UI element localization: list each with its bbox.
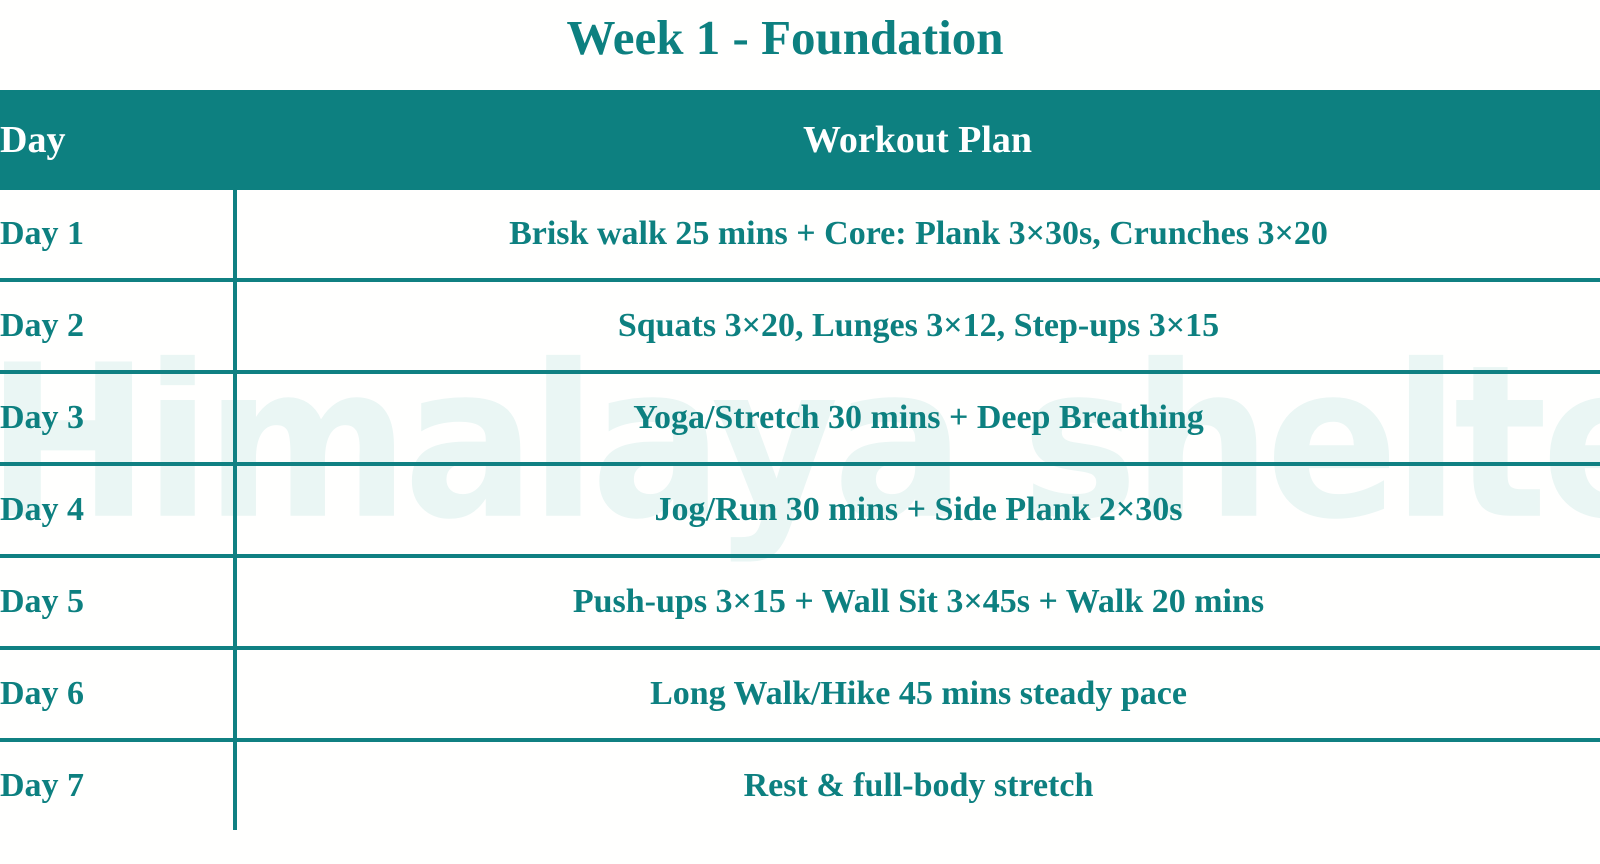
column-header-workout-plan: Workout Plan (235, 90, 1600, 190)
workout-plan-table: Day Workout Plan Day 1Brisk walk 25 mins… (0, 90, 1600, 830)
workout-plan-page: Week 1 - Foundation Day Workout Plan Day… (0, 0, 1600, 864)
table-row: Day 5Push-ups 3×15 + Wall Sit 3×45s + Wa… (0, 556, 1600, 648)
column-header-day: Day (0, 90, 235, 190)
cell-day: Day 5 (0, 556, 235, 648)
table-row: Day 3Yoga/Stretch 30 mins + Deep Breathi… (0, 372, 1600, 464)
cell-workout-plan: Brisk walk 25 mins + Core: Plank 3×30s, … (235, 190, 1600, 280)
table-row: Day 4Jog/Run 30 mins + Side Plank 2×30s (0, 464, 1600, 556)
cell-workout-plan: Jog/Run 30 mins + Side Plank 2×30s (235, 464, 1600, 556)
table-row: Day 1Brisk walk 25 mins + Core: Plank 3×… (0, 190, 1600, 280)
cell-workout-plan: Push-ups 3×15 + Wall Sit 3×45s + Walk 20… (235, 556, 1600, 648)
cell-day: Day 1 (0, 190, 235, 280)
table-body: Day 1Brisk walk 25 mins + Core: Plank 3×… (0, 190, 1600, 830)
cell-workout-plan: Squats 3×20, Lunges 3×12, Step-ups 3×15 (235, 280, 1600, 372)
cell-day: Day 6 (0, 648, 235, 740)
table-row: Day 2Squats 3×20, Lunges 3×12, Step-ups … (0, 280, 1600, 372)
cell-day: Day 2 (0, 280, 235, 372)
table-header: Day Workout Plan (0, 90, 1600, 190)
table-header-row: Day Workout Plan (0, 90, 1600, 190)
cell-day: Day 4 (0, 464, 235, 556)
cell-day: Day 3 (0, 372, 235, 464)
cell-workout-plan: Long Walk/Hike 45 mins steady pace (235, 648, 1600, 740)
table-row: Day 7Rest & full-body stretch (0, 740, 1600, 830)
cell-day: Day 7 (0, 740, 235, 830)
page-title: Week 1 - Foundation (0, 6, 1570, 70)
cell-workout-plan: Yoga/Stretch 30 mins + Deep Breathing (235, 372, 1600, 464)
table-row: Day 6Long Walk/Hike 45 mins steady pace (0, 648, 1600, 740)
cell-workout-plan: Rest & full-body stretch (235, 740, 1600, 830)
